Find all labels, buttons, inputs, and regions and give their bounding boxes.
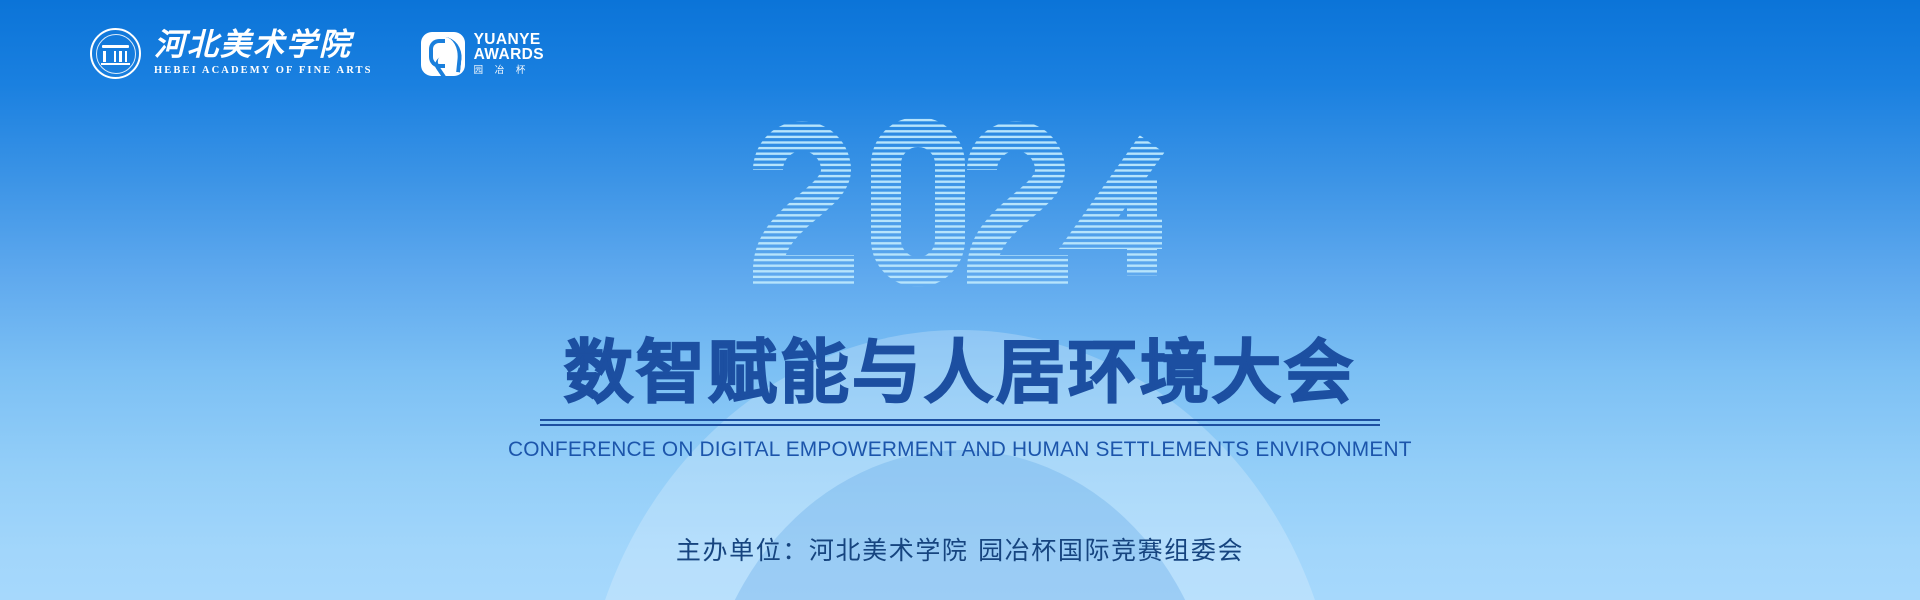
yuanye-line1: YUANYE: [474, 32, 544, 47]
hebei-en-name: HEBEI ACADEMY OF FINE ARTS: [154, 66, 373, 77]
gate-glyph-icon: [103, 45, 128, 62]
yuanye-mark-icon: [421, 32, 465, 76]
background-dome-inner: [700, 450, 1220, 600]
yuanye-cn-name: 园 冶 杯: [474, 66, 544, 75]
year-stripes: [768, 132, 1162, 276]
yuanye-logo-text: YUANYE AWARDS 园 冶 杯: [474, 32, 544, 75]
page-title: 数智赋能与人居环境大会: [564, 338, 1356, 410]
hebei-academy-logo: 河北美术学院 HEBEI ACADEMY OF FINE ARTS: [90, 28, 373, 79]
year-graphic: [0, 118, 1920, 293]
academy-seal-icon: [90, 28, 141, 79]
headline-block: 数智赋能与人居环境大会 CONFERENCE ON DIGITAL EMPOWE…: [0, 338, 1920, 462]
title-divider-rules: [540, 419, 1380, 426]
yuanye-line2: AWARDS: [474, 47, 544, 62]
yuanye-awards-logo: YUANYE AWARDS 园 冶 杯: [421, 32, 544, 76]
hebei-logo-text: 河北美术学院 HEBEI ACADEMY OF FINE ARTS: [154, 30, 373, 77]
page-subtitle: CONFERENCE ON DIGITAL EMPOWERMENT AND HU…: [508, 437, 1412, 462]
divider-rule-1: [540, 419, 1380, 421]
organizer-line: 主办单位：河北美术学院 园冶杯国际竞赛组委会: [0, 531, 1920, 567]
year-2024-svg: [750, 118, 1170, 293]
conference-banner: 河北美术学院 HEBEI ACADEMY OF FINE ARTS YUANYE…: [0, 0, 1920, 600]
logo-row: 河北美术学院 HEBEI ACADEMY OF FINE ARTS YUANYE…: [90, 28, 544, 79]
divider-rule-2: [540, 424, 1380, 426]
hebei-cn-name: 河北美术学院: [154, 30, 373, 61]
